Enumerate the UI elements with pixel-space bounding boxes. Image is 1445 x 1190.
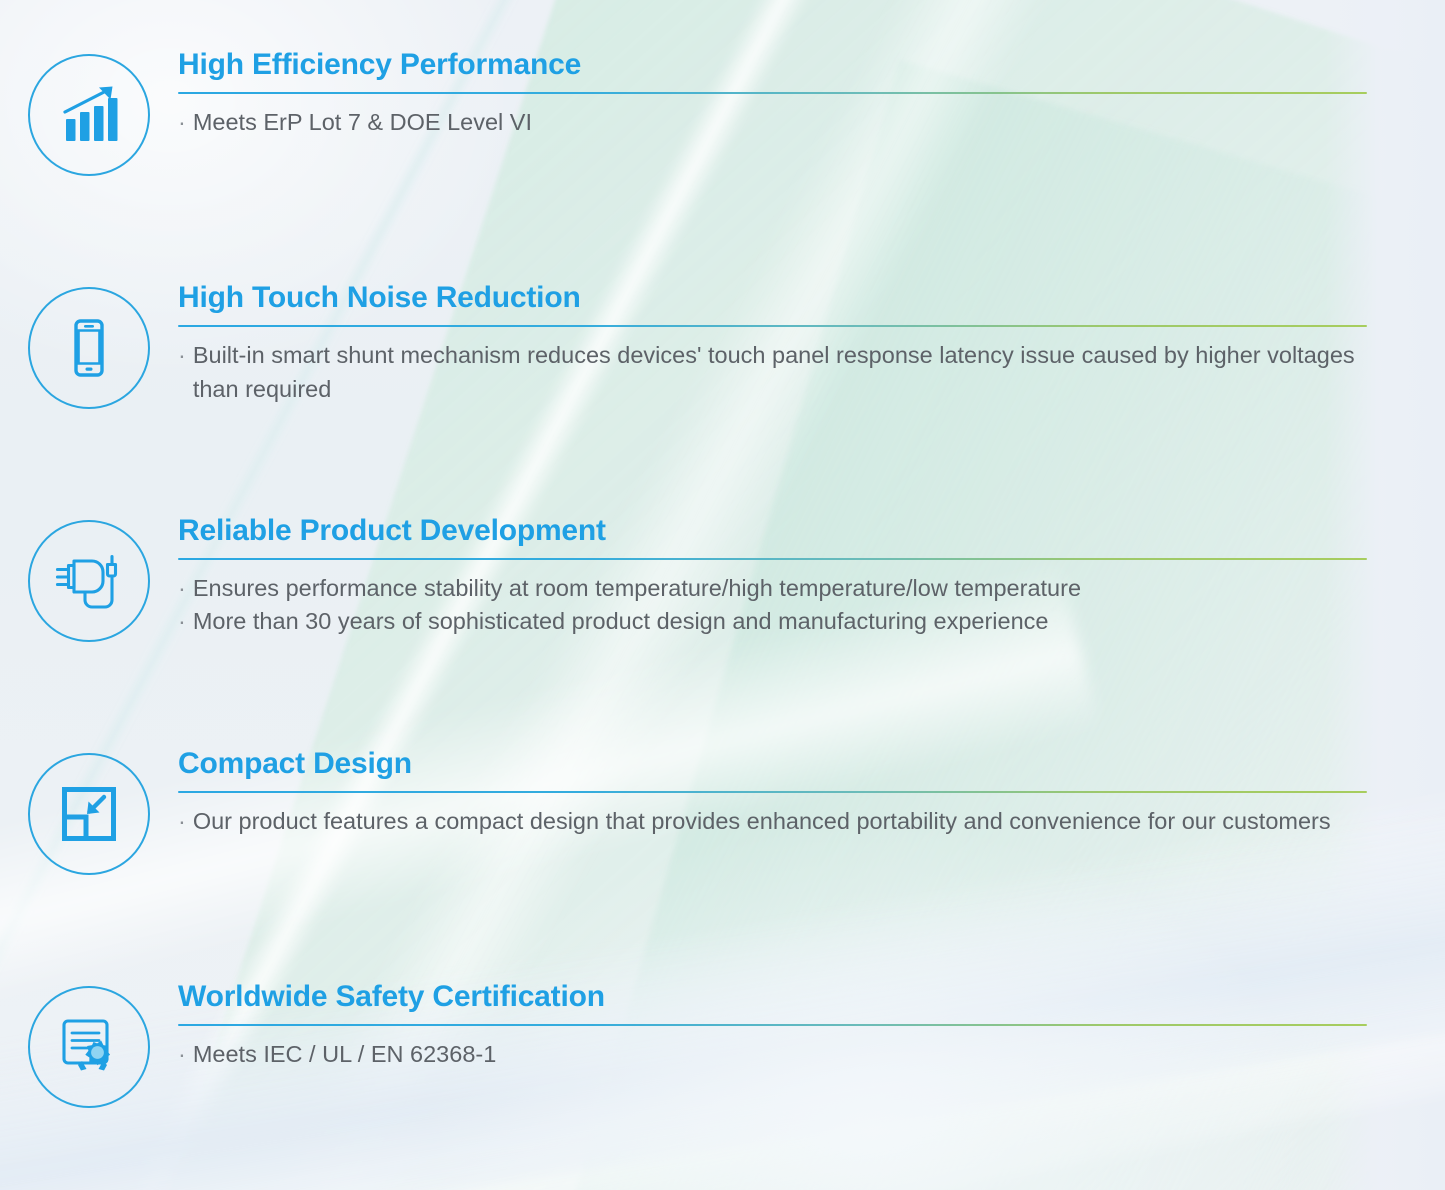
feature-bullet: · Ensures performance stability at room …	[178, 571, 1367, 605]
feature-icon-container	[0, 747, 178, 875]
bullet-text: Meets ErP Lot 7 & DOE Level VI	[193, 105, 1367, 139]
bullet-text: Meets IEC / UL / EN 62368-1	[193, 1037, 1367, 1071]
feature-icon-container	[0, 514, 178, 642]
feature-body: High Efficiency Performance · Meets ErP …	[178, 48, 1445, 139]
feature-bullet: · Built-in smart shunt mechanism reduces…	[178, 338, 1367, 406]
bullet-marker: ·	[178, 338, 186, 372]
feature-divider	[178, 92, 1367, 95]
feature-title: Worldwide Safety Certification	[178, 980, 1367, 1015]
feature-row-high-touch-noise-reduction: High Touch Noise Reduction · Built-in sm…	[0, 281, 1445, 409]
bullet-text: Our product features a compact design th…	[193, 804, 1367, 838]
feature-divider	[178, 1024, 1367, 1027]
feature-row-compact-design: Compact Design · Our product features a …	[0, 747, 1445, 875]
certificate-seal-icon	[28, 986, 150, 1108]
feature-divider	[178, 791, 1367, 794]
feature-divider	[178, 325, 1367, 328]
smartphone-icon	[28, 287, 150, 409]
feature-icon-container	[0, 48, 178, 176]
bullet-marker: ·	[178, 804, 186, 838]
feature-title: High Touch Noise Reduction	[178, 281, 1367, 316]
feature-title: High Efficiency Performance	[178, 48, 1367, 83]
bullet-text: Built-in smart shunt mechanism reduces d…	[193, 338, 1367, 406]
bullet-marker: ·	[178, 571, 186, 605]
feature-title: Reliable Product Development	[178, 514, 1367, 549]
feature-row-worldwide-safety-certification: Worldwide Safety Certification · Meets I…	[0, 980, 1445, 1108]
power-adapter-icon	[28, 520, 150, 642]
feature-body: Worldwide Safety Certification · Meets I…	[178, 980, 1445, 1071]
bar-chart-growth-icon	[28, 54, 150, 176]
feature-row-reliable-product-development: Reliable Product Development · Ensures p…	[0, 514, 1445, 642]
feature-bullet: · Our product features a compact design …	[178, 804, 1367, 838]
bullet-marker: ·	[178, 604, 186, 638]
feature-body: Reliable Product Development · Ensures p…	[178, 514, 1445, 638]
feature-title: Compact Design	[178, 747, 1367, 782]
feature-body: High Touch Noise Reduction · Built-in sm…	[178, 281, 1445, 406]
feature-bullet: · More than 30 years of sophisticated pr…	[178, 604, 1367, 638]
feature-bullet: · Meets IEC / UL / EN 62368-1	[178, 1037, 1367, 1071]
bullet-text: More than 30 years of sophisticated prod…	[193, 604, 1367, 638]
feature-icon-container	[0, 980, 178, 1108]
compact-resize-icon	[28, 753, 150, 875]
bullet-text: Ensures performance stability at room te…	[193, 571, 1367, 605]
feature-body: Compact Design · Our product features a …	[178, 747, 1445, 838]
bullet-marker: ·	[178, 1037, 186, 1071]
feature-bullet: · Meets ErP Lot 7 & DOE Level VI	[178, 105, 1367, 139]
feature-row-high-efficiency-performance: High Efficiency Performance · Meets ErP …	[0, 48, 1445, 176]
bullet-marker: ·	[178, 105, 186, 139]
feature-icon-container	[0, 281, 178, 409]
feature-divider	[178, 558, 1367, 561]
